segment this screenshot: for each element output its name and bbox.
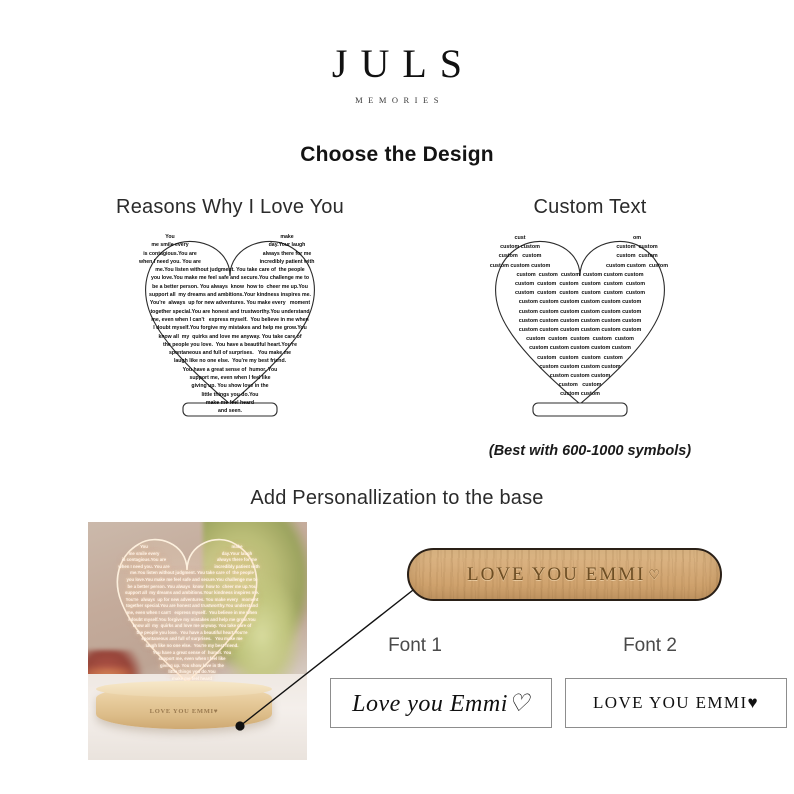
design-option-reasons-why[interactable]: makeday.Your laughalways there for meinc… xyxy=(105,228,355,433)
acrylic-heart-icon xyxy=(92,530,282,696)
wooden-base-top xyxy=(96,681,272,697)
product-listing-page: JULS MEMORIES Choose the Design Reasons … xyxy=(0,0,794,794)
brand-name: JULS xyxy=(0,44,794,84)
design-title-reasons: Reasons Why I Love You xyxy=(40,196,420,219)
design-option-custom-text[interactable]: omcustom customcustom customcustom custo… xyxy=(455,228,705,433)
font-2-sample-text: LOVE YOU EMMI♥ xyxy=(593,693,759,713)
font-1-label: Font 1 xyxy=(330,635,500,657)
acrylic-heart-panel: makeday.Your laughalways there for meinc… xyxy=(92,530,282,696)
font-2-option[interactable]: LOVE YOU EMMI♥ xyxy=(565,678,787,728)
section-title-personalization: Add Personallization to the base xyxy=(0,487,794,510)
custom-text-symbol-note: (Best with 600-1000 symbols) xyxy=(440,443,740,459)
font-1-sample-text: Love you Emmi♡ xyxy=(352,689,530,718)
font-2-label: Font 2 xyxy=(565,635,735,657)
brand-logo: JULS MEMORIES xyxy=(0,44,794,105)
font-1-option[interactable]: Love you Emmi♡ xyxy=(330,678,552,728)
base-engraved-text: LOVE YOU EMMI♥ xyxy=(96,708,272,715)
wooden-base: LOVE YOU EMMI♥ xyxy=(96,685,272,729)
wooden-plaque-preview: LOVE YOU EMMI ♡ xyxy=(407,548,722,601)
plaque-text: LOVE YOU EMMI xyxy=(467,564,645,586)
page-title-choose-design: Choose the Design xyxy=(0,143,794,167)
design-title-custom: Custom Text xyxy=(440,196,740,219)
heart-outline-icon xyxy=(105,228,355,433)
heart-outline-icon xyxy=(455,228,705,433)
product-photo: makeday.Your laughalways there for meinc… xyxy=(88,522,307,760)
plaque-heart-icon: ♡ xyxy=(648,567,662,583)
brand-tagline: MEMORIES xyxy=(0,95,794,105)
